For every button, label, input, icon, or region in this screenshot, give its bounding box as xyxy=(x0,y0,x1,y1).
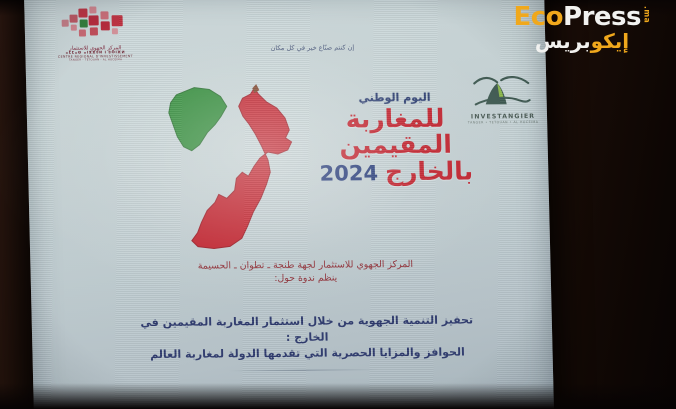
slide-subtitle-line-2: ينظم ندوة حول: xyxy=(151,271,461,286)
slide-title-line-3-row: بالخارج 2024 xyxy=(296,158,497,186)
screenshot-root: المركز الجهوي للاستثمار ⴰⵎⵎⴰⵙ ⴰⵏⵣⵣⵓⵍ ⵏ ⵓ… xyxy=(0,0,676,409)
cri-mosaic-icon xyxy=(57,5,132,44)
slide-kicker: اليوم الوطني xyxy=(294,90,494,105)
slide-title-line-1: للمغاربة xyxy=(295,105,496,133)
slide-body-block: تحفيز التنمية الجهوية من خلال استثمار ال… xyxy=(136,312,479,362)
room-floor-shadow xyxy=(0,383,676,409)
morocco-map-graphic xyxy=(154,80,318,261)
map-region-tanger xyxy=(168,87,227,150)
slide-body-line-2: الحوافز والمزايا الحصرية التي تقدمها الد… xyxy=(136,344,478,363)
slide-divider xyxy=(229,369,379,371)
projection-screen: المركز الجهوي للاستثمار ⴰⵎⵎⴰⵙ ⴰⵏⵣⵣⵓⵍ ⵏ ⵓ… xyxy=(24,0,554,409)
slide-subtitle-block: المركز الجهوي للاستثمار لجهة طنجة ـ تطوا… xyxy=(150,259,461,287)
slide-title-line-3: بالخارج xyxy=(385,158,474,185)
cri-logo: المركز الجهوي للاستثمار ⴰⵎⵎⴰⵙ ⴰⵏⵣⵣⵓⵍ ⵏ ⵓ… xyxy=(48,5,142,84)
slide-title-line-2: المقيمين xyxy=(295,132,496,160)
slide-top-note: إن كنتم صنّاع خير في كل مكان xyxy=(247,43,377,52)
screen-surface: المركز الجهوي للاستثمار ⴰⵎⵎⴰⵙ ⴰⵏⵣⵣⵓⵍ ⵏ ⵓ… xyxy=(24,0,554,409)
cri-logo-text: المركز الجهوي للاستثمار ⴰⵎⵎⴰⵙ ⴰⵏⵣⵣⵓⵍ ⵏ ⵓ… xyxy=(49,46,141,62)
slide-year: 2024 xyxy=(319,161,378,185)
slide-title-block: اليوم الوطني للمغاربة المقيمين بالخارج 2… xyxy=(294,90,496,185)
slide-body-line-1: تحفيز التنمية الجهوية من خلال استثمار ال… xyxy=(136,312,479,347)
presentation-slide: المركز الجهوي للاستثمار ⴰⵎⵎⴰⵙ ⴰⵏⵣⵣⵓⵍ ⵏ ⵓ… xyxy=(24,0,554,409)
